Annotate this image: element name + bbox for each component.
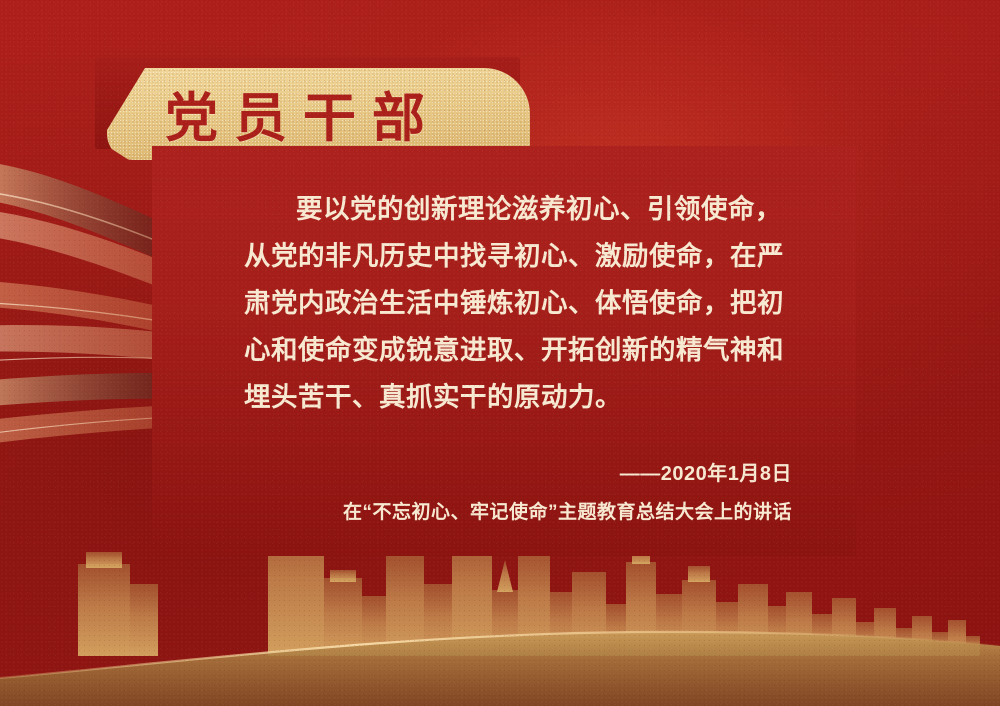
attribution-source: 在“不忘初心、牢记使命”主题教育总结大会上的讲话: [244, 497, 804, 524]
quote-line: 心和使命变成锐意进取、开拓创新的精气神和: [244, 327, 804, 374]
title-banner: 党员干部: [95, 57, 530, 160]
quote-line: 从党的非凡历史中找寻初心、激励使命，在严: [244, 233, 804, 280]
quote-line: 要以党的创新理论滋养初心、引领使命，: [244, 186, 804, 233]
quote-card: 要以党的创新理论滋养初心、引领使命， 从党的非凡历史中找寻初心、激励使命，在严 …: [152, 146, 856, 556]
quote-card-content: 要以党的创新理论滋养初心、引领使命， 从党的非凡历史中找寻初心、激励使命，在严 …: [244, 186, 804, 524]
poster-canvas: 党员干部 要以党的创新理论滋养初心、引领使命， 从党的非凡历史中找寻初心、激励使…: [0, 0, 1000, 706]
attribution-date: ——2020年1月8日: [244, 457, 804, 486]
quote-line: 埋头苦干、真抓实干的原动力。: [244, 374, 804, 421]
quote-line: 肃党内政治生活中锤炼初心、体悟使命，把初: [244, 280, 804, 327]
